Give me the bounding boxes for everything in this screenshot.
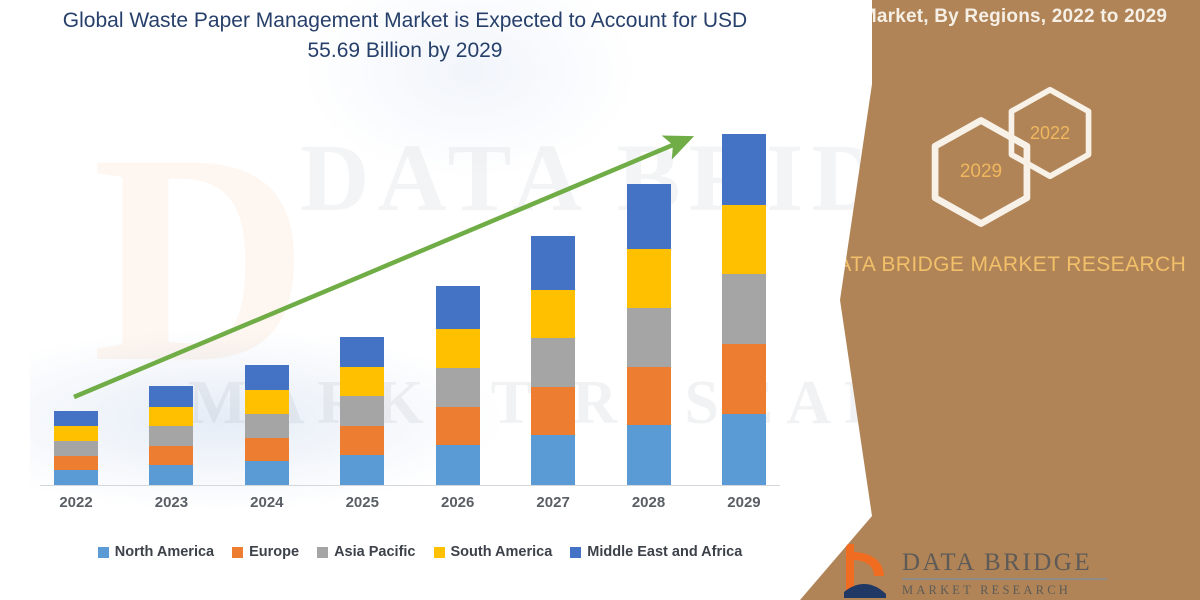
- bar-segment[interactable]: [245, 438, 289, 461]
- legend-item-north-america[interactable]: North America: [98, 544, 214, 560]
- bar-segment[interactable]: [149, 446, 193, 465]
- x-axis-labels: 20222023202420252026202720282029: [40, 494, 780, 520]
- bar-2028[interactable]: [627, 184, 671, 485]
- bar-segment[interactable]: [627, 425, 671, 485]
- legend-label: South America: [451, 544, 553, 560]
- legend-item-europe[interactable]: Europe: [232, 544, 299, 560]
- x-axis-tick-2029: 2029: [713, 494, 775, 520]
- bar-segment[interactable]: [531, 338, 575, 387]
- legend-swatch-icon: [232, 547, 243, 558]
- x-axis-tick-2027: 2027: [522, 494, 584, 520]
- bar-segment[interactable]: [627, 249, 671, 308]
- brand-name: DATA BRIDGE MARKET RESEARCH: [820, 250, 1188, 280]
- hex-badge-group: 2029 2022: [800, 86, 1200, 226]
- bar-segment[interactable]: [627, 184, 671, 248]
- data-bridge-logo-icon: [840, 542, 892, 598]
- bar-segment[interactable]: [627, 367, 671, 425]
- x-axis-tick-2025: 2025: [331, 494, 393, 520]
- logo-text-primary: DATA BRIDGE: [902, 549, 1107, 580]
- x-axis-tick-2024: 2024: [236, 494, 298, 520]
- plot-area: [40, 100, 780, 486]
- legend-label: North America: [115, 544, 214, 560]
- x-axis-tick-2026: 2026: [427, 494, 489, 520]
- bar-2024[interactable]: [245, 365, 289, 485]
- bar-segment[interactable]: [245, 461, 289, 485]
- bar-segment[interactable]: [531, 435, 575, 485]
- bar-segment[interactable]: [436, 368, 480, 407]
- bar-segment[interactable]: [531, 290, 575, 338]
- bar-segment[interactable]: [722, 205, 766, 274]
- company-logo: DATA BRIDGE MARKET RESEARCH: [840, 540, 1170, 600]
- x-axis-tick-2022: 2022: [45, 494, 107, 520]
- bar-segment[interactable]: [340, 426, 384, 455]
- legend-item-middle-east-and-africa[interactable]: Middle East and Africa: [570, 544, 742, 560]
- legend-swatch-icon: [570, 547, 581, 558]
- bar-segment[interactable]: [54, 456, 98, 470]
- bar-segment[interactable]: [54, 441, 98, 456]
- logo-text-secondary: MARKET RESEARCH: [902, 583, 1162, 598]
- stacked-bar-group: [40, 100, 780, 485]
- bar-segment[interactable]: [436, 329, 480, 368]
- legend-label: Middle East and Africa: [587, 544, 742, 560]
- legend-swatch-icon: [98, 547, 109, 558]
- bar-segment[interactable]: [722, 134, 766, 205]
- bar-segment[interactable]: [245, 365, 289, 390]
- axis-baseline: [40, 485, 780, 486]
- bar-segment[interactable]: [436, 407, 480, 445]
- bar-segment[interactable]: [149, 407, 193, 426]
- legend-item-asia-pacific[interactable]: Asia Pacific: [317, 544, 415, 560]
- bar-segment[interactable]: [149, 386, 193, 407]
- bar-segment[interactable]: [340, 337, 384, 367]
- hex-badge-2022: 2022: [1003, 86, 1097, 180]
- bar-2027[interactable]: [531, 236, 575, 485]
- bar-segment[interactable]: [340, 455, 384, 485]
- x-axis-tick-2023: 2023: [140, 494, 202, 520]
- legend-label: Asia Pacific: [334, 544, 415, 560]
- hex-badge-2022-label: 2022: [1003, 86, 1097, 180]
- bar-segment[interactable]: [54, 470, 98, 485]
- legend-swatch-icon: [317, 547, 328, 558]
- bar-segment[interactable]: [722, 274, 766, 344]
- bar-segment[interactable]: [436, 286, 480, 329]
- bar-segment[interactable]: [54, 411, 98, 426]
- bar-2026[interactable]: [436, 286, 480, 485]
- bar-segment[interactable]: [340, 396, 384, 426]
- legend-label: Europe: [249, 544, 299, 560]
- chart-legend: North AmericaEuropeAsia PacificSouth Ame…: [40, 538, 800, 566]
- bar-segment[interactable]: [149, 465, 193, 485]
- legend-item-south-america[interactable]: South America: [434, 544, 553, 560]
- bar-segment[interactable]: [149, 426, 193, 446]
- x-axis-tick-2028: 2028: [618, 494, 680, 520]
- bar-segment[interactable]: [54, 426, 98, 441]
- bar-2023[interactable]: [149, 386, 193, 485]
- bar-segment[interactable]: [245, 390, 289, 414]
- bar-segment[interactable]: [531, 387, 575, 435]
- bar-2029[interactable]: [722, 134, 766, 485]
- legend-swatch-icon: [434, 547, 445, 558]
- bar-segment[interactable]: [531, 236, 575, 290]
- bar-segment[interactable]: [627, 308, 671, 367]
- bar-2022[interactable]: [54, 411, 98, 485]
- brand-panel: Market, By Regions, 2022 to 2029 2029 20…: [800, 0, 1200, 600]
- chart-panel: D DATA BRIDGE MARKET RESEARCH Global Was…: [0, 0, 860, 600]
- bar-segment[interactable]: [722, 344, 766, 414]
- chart-title: Global Waste Paper Management Market is …: [60, 6, 750, 66]
- bar-segment[interactable]: [340, 367, 384, 396]
- bar-segment[interactable]: [722, 414, 766, 485]
- infographic-root: D DATA BRIDGE MARKET RESEARCH Global Was…: [0, 0, 1200, 600]
- bar-segment[interactable]: [436, 445, 480, 485]
- bar-2025[interactable]: [340, 337, 384, 485]
- bar-segment[interactable]: [245, 414, 289, 438]
